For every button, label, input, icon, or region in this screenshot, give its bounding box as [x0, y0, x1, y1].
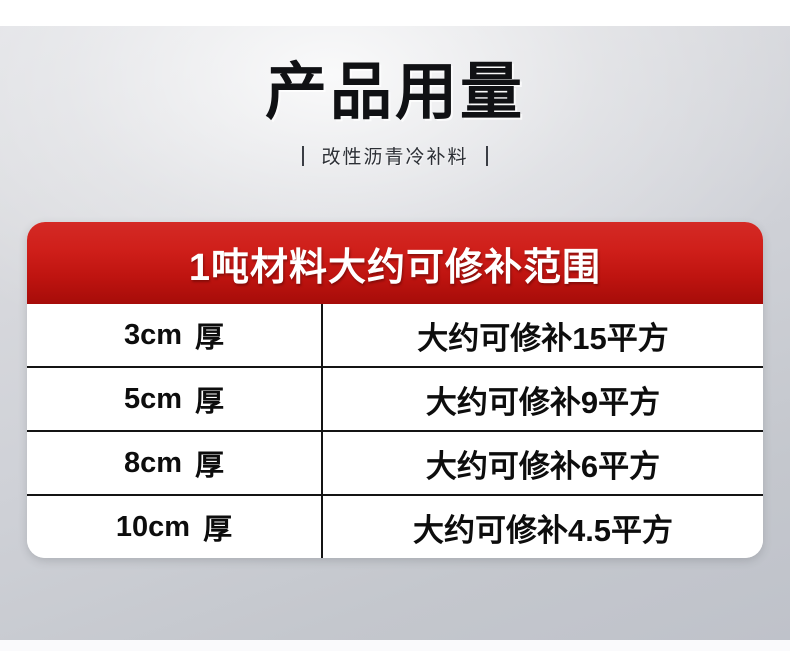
thickness-value: 8cm — [124, 447, 182, 480]
table-row: 8cm厚大约可修补6平方 — [27, 430, 763, 494]
usage-card-banner-title: 1吨材料大约可修补范围 — [189, 236, 601, 291]
thickness-unit-label: 厚 — [195, 314, 224, 356]
table-cell-thickness: 5cm厚 — [27, 368, 323, 430]
usage-card-banner: 1吨材料大约可修补范围 — [27, 222, 763, 304]
thickness-unit-label: 厚 — [203, 506, 232, 548]
table-cell-thickness: 10cm厚 — [27, 496, 323, 558]
background-bottom-strip — [0, 640, 790, 651]
table-cell-coverage-area: 大约可修补6平方 — [323, 432, 763, 494]
table-cell-thickness: 8cm厚 — [27, 432, 323, 494]
table-cell-thickness: 3cm厚 — [27, 304, 323, 366]
usage-card: 1吨材料大约可修补范围 3cm厚大约可修补15平方5cm厚大约可修补9平方8cm… — [27, 222, 763, 558]
product-usage-infographic: 产品用量 改性沥青冷补料 1吨材料大约可修补范围 3cm厚大约可修补15平方5c… — [0, 0, 790, 651]
background-top-strip — [0, 0, 790, 26]
thickness-unit-label: 厚 — [195, 378, 224, 420]
thickness-value: 3cm — [124, 319, 182, 352]
table-row: 10cm厚大约可修补4.5平方 — [27, 494, 763, 558]
table-cell-coverage-area: 大约可修补9平方 — [323, 368, 763, 430]
table-row: 5cm厚大约可修补9平方 — [27, 366, 763, 430]
table-cell-coverage-area: 大约可修补4.5平方 — [323, 496, 763, 558]
thickness-value: 5cm — [124, 383, 182, 416]
thickness-unit-label: 厚 — [195, 442, 224, 484]
usage-table: 3cm厚大约可修补15平方5cm厚大约可修补9平方8cm厚大约可修补6平方10c… — [27, 304, 763, 558]
thickness-value: 10cm — [116, 511, 190, 544]
table-row: 3cm厚大约可修补15平方 — [27, 304, 763, 366]
table-cell-coverage-area: 大约可修补15平方 — [323, 304, 763, 366]
